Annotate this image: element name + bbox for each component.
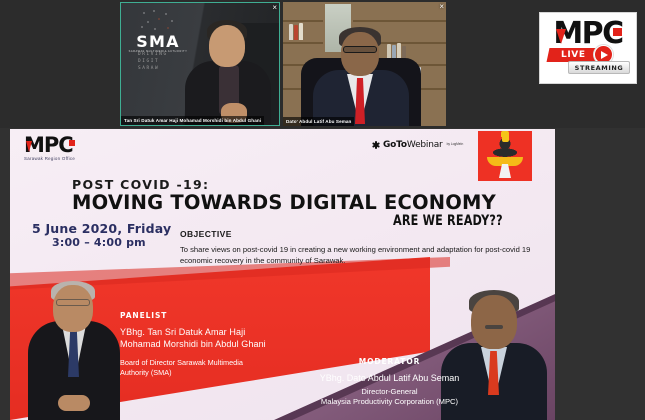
mpc-slide-logo: MPC Sarawak Region Office: [24, 135, 75, 161]
moderator-role: Director-GeneralMalaysia Productivity Co…: [282, 387, 497, 407]
video-tile-panelist[interactable]: SMA SARAWAK MULTIMEDIA AUTHORITY DRIVING…: [120, 2, 280, 126]
event-date: 5 June 2020, Friday: [32, 221, 171, 236]
panelist-name: YBhg. Tan Sri Datuk Amar HajiMohamad Mor…: [120, 327, 335, 350]
gotowebinar-asterisk-icon: [372, 141, 380, 149]
gotowebinar-name: GoToWebinar: [383, 140, 443, 150]
participant-name-label: Tan Sri Datuk Amar Haji Mohamad Morshidi…: [121, 116, 264, 125]
panelist-label: PANELIST: [120, 311, 335, 320]
mpc-logo-wordmark: MPC: [24, 135, 75, 155]
objective-section: OBJECTIVE To share views on post-covid 1…: [180, 229, 550, 266]
event-time: 3:00 – 4:00 pm: [52, 236, 146, 249]
slide-kicker: POST COVID -19:: [72, 177, 209, 192]
sma-network-icon: [138, 9, 178, 33]
mpc-red-wedge-icon: [556, 29, 566, 44]
video-tile-moderator[interactable]: × Dato' Abdul Latif Abu Seman: [283, 2, 446, 126]
sma-logo: SMA SARAWAK MULTIMEDIA AUTHORITY: [127, 9, 189, 53]
mpc-red-block-icon: [613, 28, 622, 36]
objective-text: To share views on post-covid 19 in creat…: [180, 245, 550, 266]
mpc-red-block-icon: [69, 140, 75, 146]
live-label: LIVE: [561, 50, 586, 60]
close-icon[interactable]: ×: [272, 4, 277, 12]
objective-title: OBJECTIVE: [180, 229, 550, 239]
video-tile-strip: SMA SARAWAK MULTIMEDIA AUTHORITY DRIVING…: [0, 0, 645, 128]
live-streaming-badges: LIVE STREAMING: [544, 46, 632, 76]
slide-headline: MOVING TOWARDS DIGITAL ECONOMY: [72, 191, 496, 214]
moderator-label: MODERATOR: [282, 357, 497, 366]
presentation-slide[interactable]: MPC Sarawak Region Office GoToWebinar by…: [10, 129, 555, 420]
streaming-label: STREAMING: [575, 64, 624, 72]
mpc-live-streaming-logo: MPC LIVE STREAMING: [539, 12, 637, 84]
mpc-red-wedge-icon: [26, 141, 32, 152]
moderator-info: MODERATOR YBhg. Dato Abdul Latif Abu Sem…: [282, 357, 497, 407]
participant-name-label: Dato' Abdul Latif Abu Seman: [283, 117, 354, 126]
mpc-wordmark: MPC: [553, 20, 622, 48]
panelist-video-feed: SMA SARAWAK MULTIMEDIA AUTHORITY DRIVING…: [121, 3, 279, 125]
sma-wordmark: SMA: [127, 34, 189, 49]
gotowebinar-byline: by LogMeIn: [447, 143, 464, 147]
panelist-photo: [18, 279, 126, 420]
sma-tagline: DRIVINGDIGITSARAW: [138, 51, 168, 72]
gotowebinar-logo: GoToWebinar by LogMeIn: [372, 140, 463, 150]
webinar-screen: SMA SARAWAK MULTIMEDIA AUTHORITY DRIVING…: [0, 0, 645, 420]
moderator-name: YBhg. Dato Abdul Latif Abu Seman: [282, 373, 497, 385]
live-badge: LIVE: [547, 48, 600, 62]
streaming-badge: STREAMING: [568, 61, 630, 74]
panelist-face: [209, 25, 245, 67]
close-icon[interactable]: ×: [439, 3, 444, 11]
moderator-glasses: [343, 46, 377, 53]
moderator-face: [341, 32, 379, 76]
slide-tagline: ARE WE READY??: [393, 213, 503, 229]
moderator-video-feed: [283, 2, 446, 126]
sarawak-coat-of-arms-icon: [478, 131, 532, 181]
